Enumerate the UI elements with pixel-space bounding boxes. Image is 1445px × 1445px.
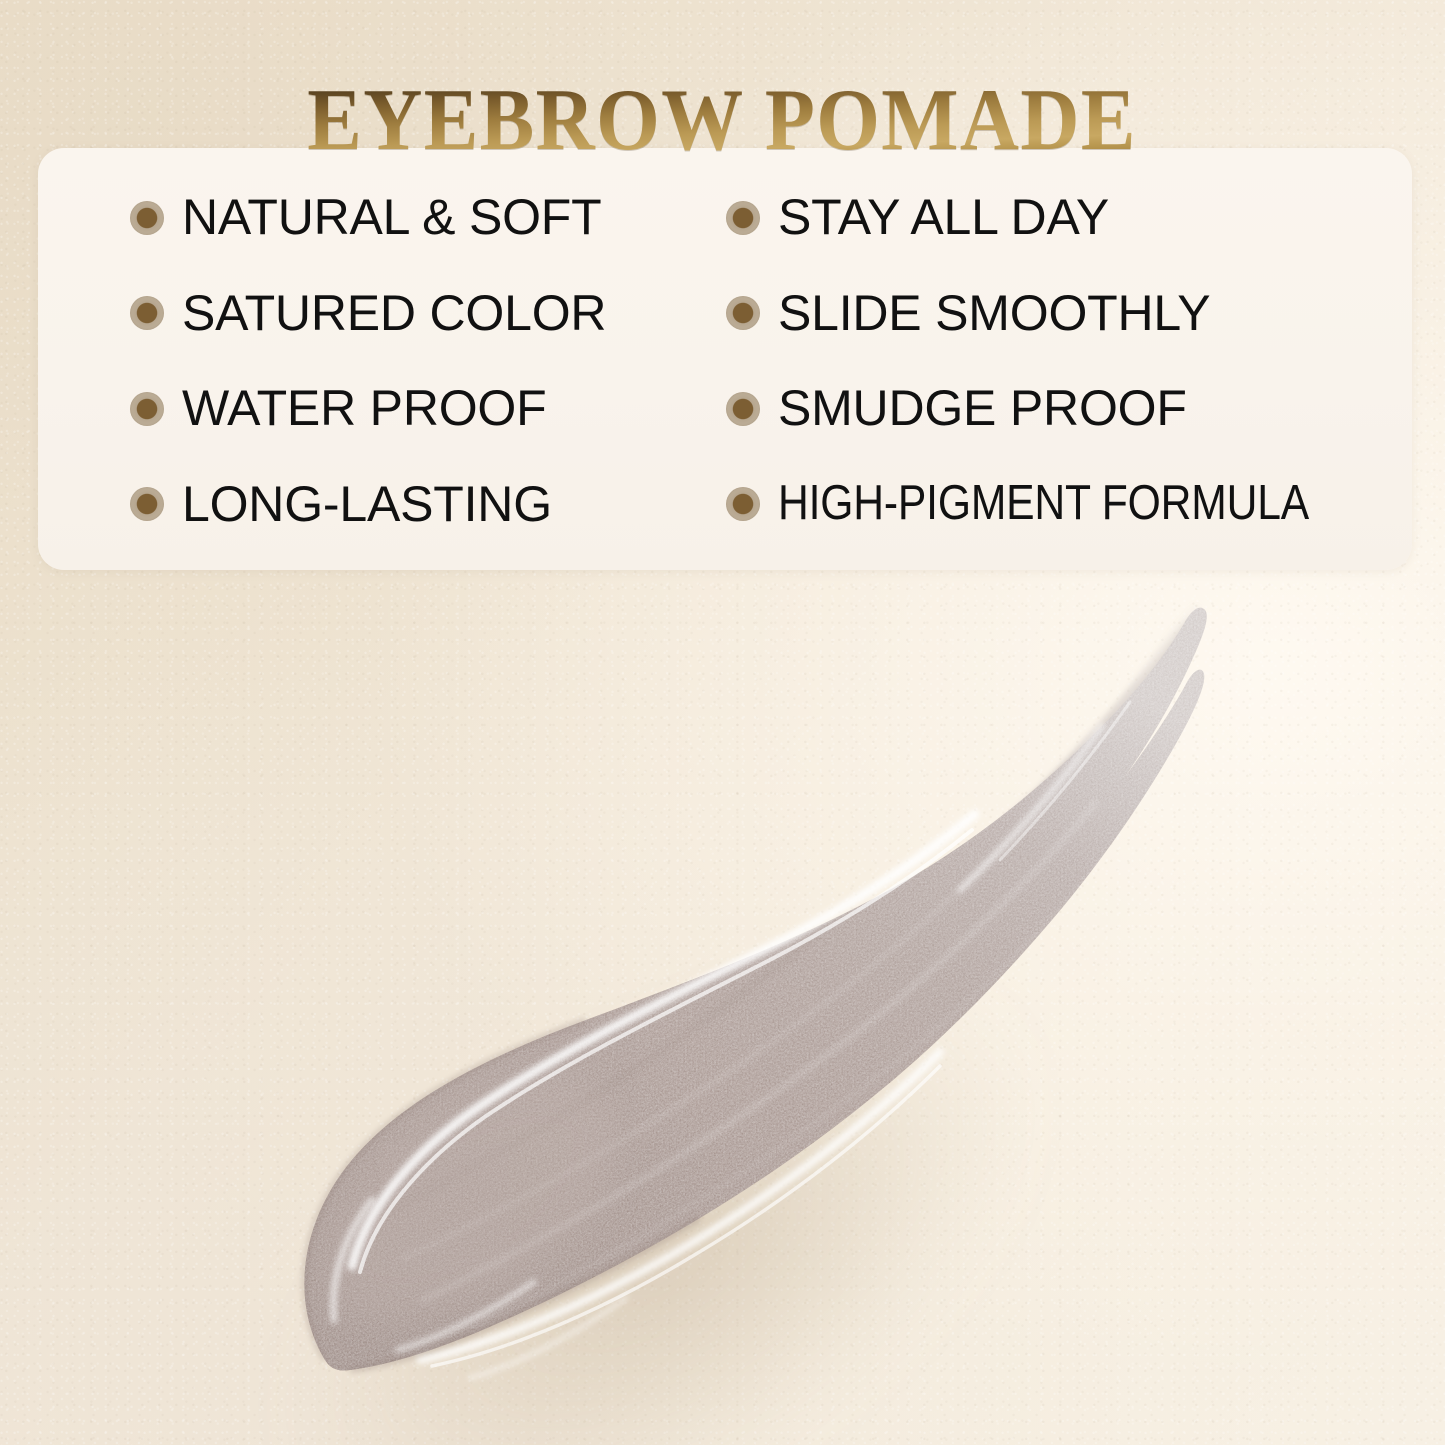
feature-label: LONG-LASTING <box>182 479 552 530</box>
page-title: EYEBROW POMADE <box>308 75 1138 167</box>
bullet-dot-icon <box>726 392 760 426</box>
product-swatch-container <box>0 560 1445 1445</box>
feature-item-water-proof: WATER PROOF <box>130 383 726 434</box>
feature-item-long-lasting: LONG-LASTING <box>130 479 726 530</box>
page-title-container: EYEBROW POMADE <box>0 16 1445 225</box>
feature-item-high-pigment-formula: HIGH-PIGMENT FORMULA <box>726 479 1398 529</box>
feature-item-slide-smoothly: SLIDE SMOOTHLY <box>726 288 1398 339</box>
feature-item-smudge-proof: SMUDGE PROOF <box>726 383 1398 434</box>
bullet-dot-icon <box>130 487 164 521</box>
feature-label: WATER PROOF <box>182 383 546 434</box>
bullet-dot-icon <box>726 487 760 521</box>
feature-label: SMUDGE PROOF <box>778 383 1187 434</box>
feature-item-satured-color: SATURED COLOR <box>130 288 726 339</box>
feature-label: HIGH-PIGMENT FORMULA <box>778 479 1309 529</box>
product-infographic: EYEBROW POMADE NATURAL & SOFT STAY ALL D… <box>0 0 1445 1445</box>
feature-label: SLIDE SMOOTHLY <box>778 288 1210 339</box>
bullet-dot-icon <box>726 296 760 330</box>
bullet-dot-icon <box>130 392 164 426</box>
bullet-dot-icon <box>130 296 164 330</box>
feature-label: SATURED COLOR <box>182 288 606 339</box>
product-swatch-smear <box>0 560 1445 1445</box>
